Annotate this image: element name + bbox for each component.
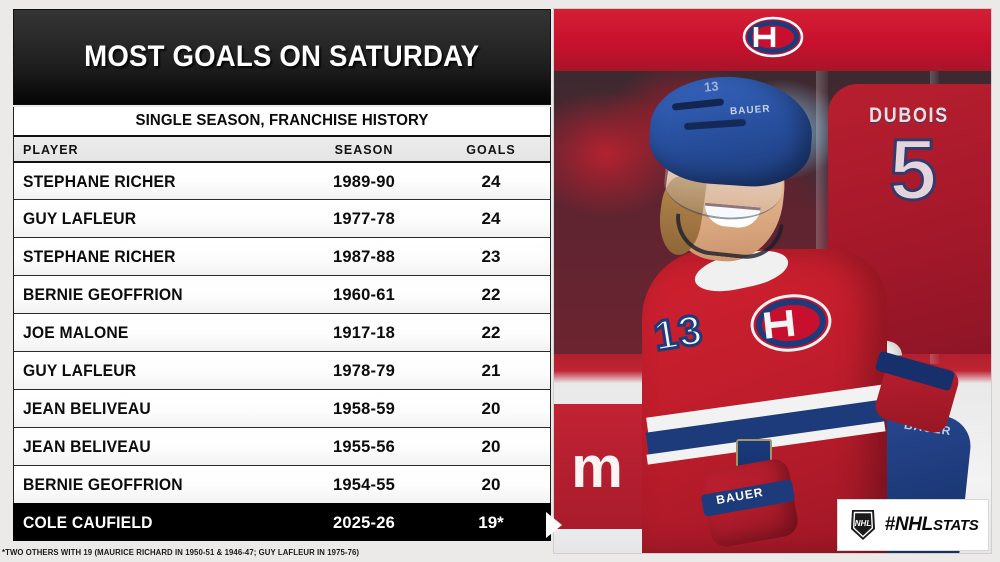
nhl-stats-graphic: MOST GOALS ON SATURDAY SINGLE SEASON, FR…: [0, 0, 1000, 562]
jersey-number: 13: [651, 305, 707, 360]
cell-season: 1955-56: [299, 428, 429, 466]
cell-player: GUY LAFLEUR: [23, 352, 136, 390]
cell-goals: 19*: [435, 504, 547, 542]
table-row: BERNIE GEOFFRION1960-6122: [13, 275, 551, 313]
nhl-shield-icon: NHL: [848, 508, 878, 542]
cell-player: JEAN BELIVEAU: [23, 428, 151, 466]
table-row: JOE MALONE1917-1822: [13, 313, 551, 351]
table-row: STEPHANE RICHER1989-9024: [13, 161, 551, 199]
nhl-stats-badge: NHL #NHLSTATS: [837, 499, 989, 551]
nhl-stats-wordmark: #NHLSTATS: [885, 514, 979, 536]
cell-goals: 22: [435, 276, 547, 314]
footnote: *TWO OTHERS WITH 19 (MAURICE RICHARD IN …: [2, 546, 534, 560]
stats-panel: MOST GOALS ON SATURDAY SINGLE SEASON, FR…: [0, 0, 553, 562]
cell-goals: 20: [435, 466, 547, 504]
cell-player: COLE CAUFIELD: [23, 504, 153, 542]
table-row: BERNIE GEOFFRION1954-5520: [13, 465, 551, 503]
title-bar: MOST GOALS ON SATURDAY: [13, 9, 551, 105]
cell-player: JOE MALONE: [23, 314, 129, 352]
cole-caufield-photo: BAUER 13: [554, 9, 991, 553]
cell-goals: 23: [435, 238, 547, 276]
subtitle: SINGLE SEASON, FRANCHISE HISTORY: [135, 112, 428, 130]
cell-goals: 21: [435, 352, 547, 390]
cell-player: BERNIE GEOFFRION: [23, 466, 183, 504]
cell-season: 1978-79: [299, 352, 429, 390]
cell-season: 1977-78: [299, 200, 429, 238]
column-header-goals: GOALS: [435, 137, 547, 163]
nhl-hashtag: #NHL: [885, 514, 933, 535]
cell-season: 1989-90: [299, 163, 429, 201]
cell-player: BERNIE GEOFFRION: [23, 276, 183, 314]
cell-season: 1954-55: [299, 466, 429, 504]
cell-player: STEPHANE RICHER: [23, 163, 176, 201]
table-row: STEPHANE RICHER1987-8823: [13, 237, 551, 275]
nhl-stats-word: STATS: [933, 517, 978, 534]
cell-goals: 24: [435, 200, 547, 238]
column-header-season: SEASON: [299, 137, 429, 163]
svg-text:NHL: NHL: [854, 519, 871, 528]
cell-player: JEAN BELIVEAU: [23, 390, 151, 428]
helmet-number: 13: [703, 78, 719, 94]
table-row: JEAN BELIVEAU1955-5620: [13, 427, 551, 465]
table-row: GUY LAFLEUR1977-7824: [13, 199, 551, 237]
cell-goals: 22: [435, 314, 547, 352]
page-title: MOST GOALS ON SATURDAY: [84, 40, 479, 74]
cell-player: GUY LAFLEUR: [23, 200, 136, 238]
cell-goals: 24: [435, 163, 547, 201]
table-row: COLE CAUFIELD2025-2619*: [13, 503, 551, 541]
cell-goals: 20: [435, 390, 547, 428]
cell-season: 1987-88: [299, 238, 429, 276]
table-row: JEAN BELIVEAU1958-5920: [13, 389, 551, 427]
photo-content: DUBOIS 5 m BAUER: [554, 9, 991, 553]
hockey-helmet: [646, 71, 815, 190]
stats-table-body: STEPHANE RICHER1989-9024GUY LAFLEUR1977-…: [13, 161, 551, 541]
cell-season: 1958-59: [299, 390, 429, 428]
subtitle-bar: SINGLE SEASON, FRANCHISE HISTORY: [13, 107, 551, 135]
cell-player: STEPHANE RICHER: [23, 238, 176, 276]
cell-season: 1960-61: [299, 276, 429, 314]
montreal-canadiens-logo-icon: [742, 16, 804, 58]
cell-season: 2025-26: [299, 504, 429, 542]
highlight-arrow-icon: [546, 512, 562, 538]
cell-goals: 20: [435, 428, 547, 466]
table-row: GUY LAFLEUR1978-7921: [13, 351, 551, 389]
table-column-headers: PLAYER SEASON GOALS: [13, 135, 551, 161]
player-photo-panel: DUBOIS 5 m BAUER: [553, 8, 992, 554]
canadiens-crest-icon: [747, 290, 835, 356]
cell-season: 1917-18: [299, 314, 429, 352]
column-header-player: PLAYER: [23, 137, 79, 163]
